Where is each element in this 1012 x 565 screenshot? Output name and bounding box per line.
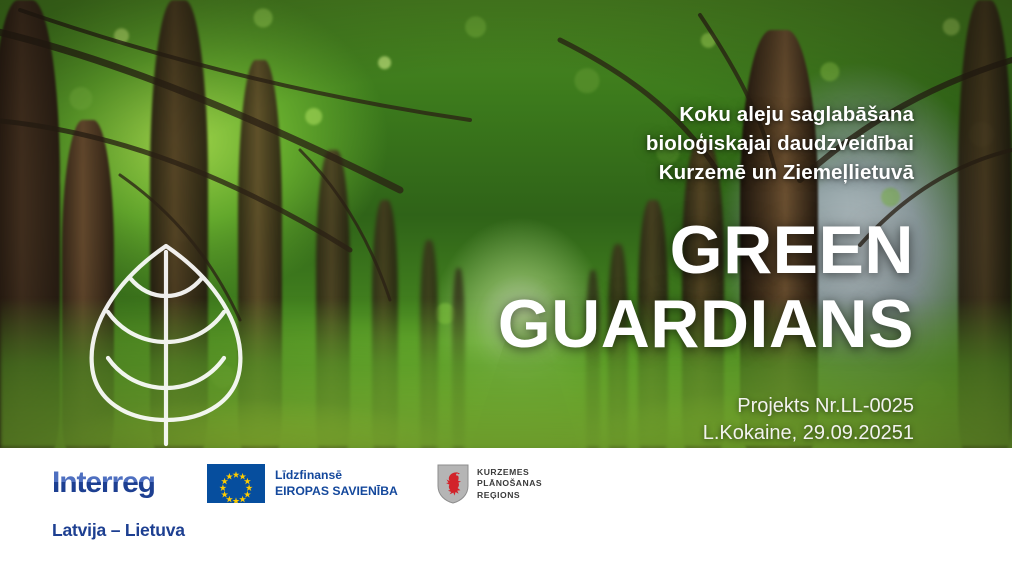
kpr-text-line: REĢIONS — [477, 490, 542, 501]
page-title: GREEN GUARDIANS — [274, 213, 914, 361]
subtitle-line: Kurzemē un Ziemeļlietuvā — [274, 158, 914, 187]
eu-cofunding-logo: Līdzfinansē EIROPAS SAVIENĪBA — [207, 464, 398, 503]
slide-subtitle: Koku aleju saglabāšana bioloģiskajai dau… — [274, 100, 914, 187]
interreg-wordmark: Interreg — [52, 468, 155, 498]
kurzeme-region-text: KURZEMES PLĀNOŠANAS REĢIONS — [477, 467, 542, 501]
eu-text-line: Līdzfinansē — [275, 468, 398, 484]
kpr-text-line: PLĀNOŠANAS — [477, 478, 542, 489]
subtitle-line: bioloģiskajai daudzveidībai — [274, 129, 914, 158]
programme-name: Latvija – Lietuva — [52, 520, 185, 541]
project-meta: Projekts Nr.LL-0025 L.Kokaine, 29.09.202… — [274, 393, 914, 447]
slide-text-block: Koku aleju saglabāšana bioloģiskajai dau… — [274, 100, 914, 447]
hero-background-photo: Koku aleju saglabāšana bioloģiskajai dau… — [0, 0, 1012, 448]
title-line: GUARDIANS — [274, 287, 914, 361]
subtitle-line: Koku aleju saglabāšana — [274, 100, 914, 129]
footer-logo-bar: Interreg Latvija – Lietuva — [0, 448, 1012, 565]
kurzeme-region-logo: KURZEMES PLĀNOŠANAS REĢIONS — [437, 464, 542, 504]
eu-text-line: EIROPAS SAVIENĪBA — [275, 484, 398, 500]
interreg-logo: Interreg — [52, 468, 155, 498]
author-and-date: L.Kokaine, 29.09.20251 — [274, 420, 914, 447]
presentation-slide: Koku aleju saglabāšana bioloģiskajai dau… — [0, 0, 1012, 565]
title-line: GREEN — [274, 213, 914, 287]
eu-stars — [207, 464, 265, 503]
eu-flag-icon — [207, 464, 265, 503]
kpr-text-line: KURZEMES — [477, 467, 542, 478]
eu-cofunding-text: Līdzfinansē EIROPAS SAVIENĪBA — [275, 468, 398, 499]
kurzeme-shield-icon — [437, 464, 469, 504]
project-number: Projekts Nr.LL-0025 — [274, 393, 914, 420]
